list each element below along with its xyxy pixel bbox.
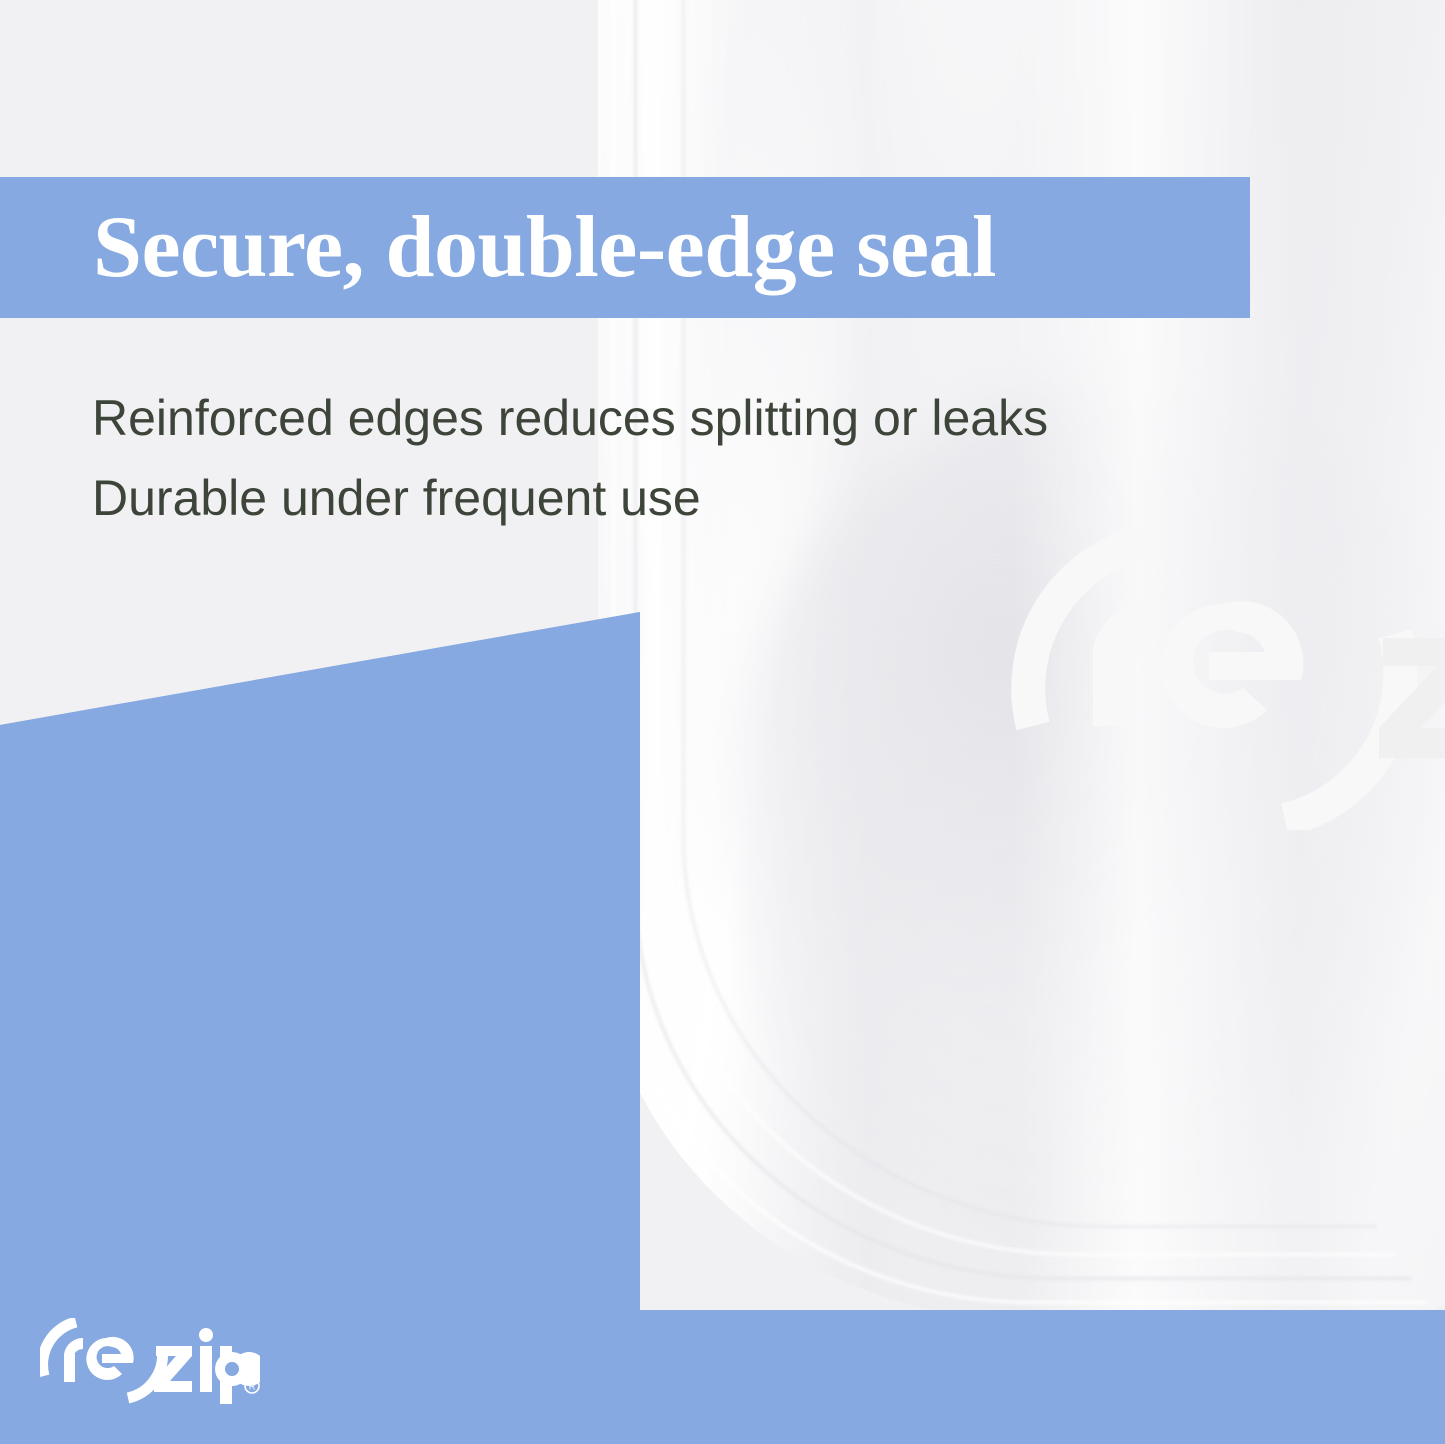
feature-line: Reinforced edges reduces splitting or le…: [92, 378, 1152, 458]
feature-list: Reinforced edges reduces splitting or le…: [92, 378, 1152, 538]
headline-band: Secure, double-edge seal: [0, 177, 1250, 318]
svg-text:R: R: [249, 1382, 256, 1392]
page-title: Secure, double-edge seal: [0, 204, 996, 292]
marketing-image: Secure, double-edge seal Reinforced edge…: [0, 0, 1445, 1444]
registered-trademark-icon: R: [245, 1379, 259, 1393]
rezip-brand-logo: R: [40, 1318, 260, 1404]
feature-line: Durable under frequent use: [92, 458, 1152, 538]
